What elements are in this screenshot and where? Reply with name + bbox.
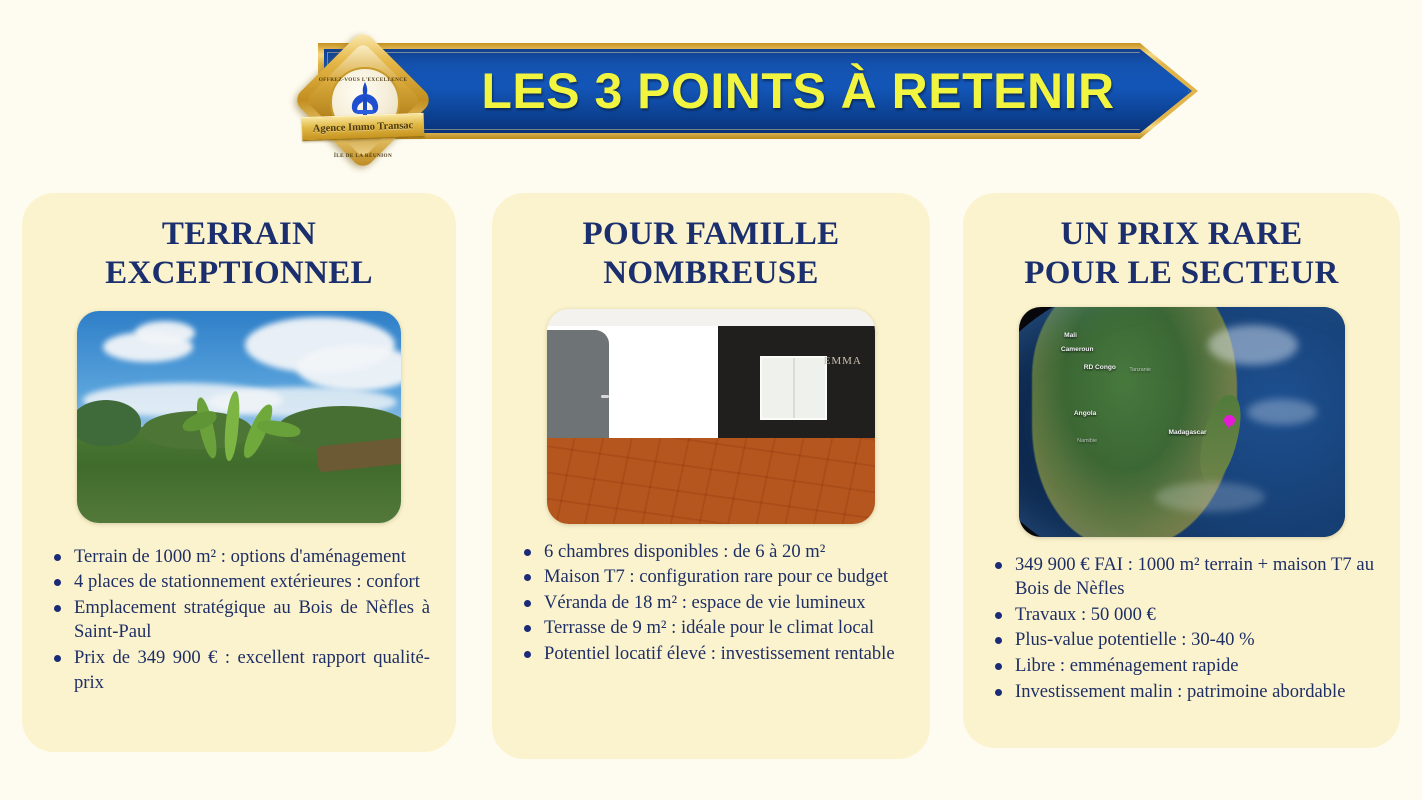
- list-item: Maison T7 : configuration rare pour ce b…: [522, 565, 904, 590]
- header-banner-area: LES 3 POINTS À RETENIR OFFREZ-VOUS L'EXC…: [0, 0, 1422, 185]
- map-label-madagascar: Madagascar: [1168, 429, 1206, 436]
- list-item: Plus-value potentielle : 30-40 %: [993, 628, 1374, 653]
- map-label-cameroun: Cameroun: [1061, 346, 1094, 353]
- card-photo-carte: Mali Cameroun RD Congo Tanzanie Angola N…: [1019, 307, 1345, 537]
- card-heading-line2: POUR LE SECTEUR: [1024, 255, 1338, 291]
- logo-ribbon-text: Agence Immo Transac: [313, 120, 414, 135]
- card-heading-line1: POUR FAMILLE: [583, 216, 840, 252]
- card-heading-prix: UN PRIX RARE POUR LE SECTEUR: [963, 193, 1400, 293]
- list-item: 349 900 € FAI : 1000 m² terrain + maison…: [993, 553, 1374, 602]
- list-item: Terrain de 1000 m² : options d'aménageme…: [52, 545, 430, 570]
- photo-door-handle: [601, 395, 609, 398]
- point-card-terrain: TERRAIN EXCEPTIONNEL Terrain de 1000 m² …: [22, 193, 456, 752]
- photo-vegetation: [77, 400, 141, 446]
- list-item: Travaux : 50 000 €: [993, 603, 1374, 628]
- photo-cloud: [1155, 482, 1265, 512]
- title-banner: LES 3 POINTS À RETENIR: [318, 43, 1198, 139]
- photo-window: [760, 356, 826, 420]
- map-label-rd-congo: RD Congo: [1084, 364, 1116, 371]
- list-item: Emplacement stratégique au Bois de Nèfle…: [52, 596, 430, 645]
- logo-arc-bottom-text: ÎLE DE LA RÉUNION: [296, 153, 430, 159]
- card-heading-terrain: TERRAIN EXCEPTIONNEL: [22, 193, 456, 293]
- card-heading-line1: TERRAIN: [162, 216, 316, 252]
- card-heading-line2: NOMBREUSE: [603, 255, 818, 291]
- card-heading-line2: EXCEPTIONNEL: [105, 255, 373, 291]
- card-bullets-famille: 6 chambres disponibles : de 6 à 20 m² Ma…: [492, 524, 930, 667]
- photo-cloud: [297, 345, 401, 391]
- map-pin-reunion-icon: [1224, 415, 1235, 430]
- logo-ribbon: Agence Immo Transac: [302, 113, 425, 141]
- list-item: 6 chambres disponibles : de 6 à 20 m²: [522, 540, 904, 565]
- card-bullets-prix: 349 900 € FAI : 1000 m² terrain + maison…: [963, 537, 1400, 704]
- photo-floor-tiles: [547, 438, 875, 524]
- map-label-angola: Angola: [1074, 410, 1096, 417]
- card-photo-terrain: [77, 311, 401, 523]
- point-card-famille: POUR FAMILLE NOMBREUSE EMMA 6 chambres d…: [492, 193, 930, 759]
- agency-logo-badge: OFFREZ-VOUS L'EXCELLENCE Agence Immo Tra…: [296, 33, 430, 167]
- photo-cloud: [1208, 325, 1298, 365]
- card-photo-chambre: EMMA: [547, 309, 875, 524]
- list-item: Terrasse de 9 m² : idéale pour le climat…: [522, 616, 904, 641]
- list-item: Prix de 349 900 € : excellent rapport qu…: [52, 646, 430, 695]
- list-item: Investissement malin : patrimoine aborda…: [993, 680, 1374, 705]
- points-cards-row: TERRAIN EXCEPTIONNEL Terrain de 1000 m² …: [0, 193, 1422, 773]
- card-heading-line1: UN PRIX RARE: [1061, 216, 1303, 252]
- map-label-mali: Mali: [1064, 332, 1077, 339]
- card-heading-famille: POUR FAMILLE NOMBREUSE: [492, 193, 930, 293]
- list-item: Véranda de 18 m² : espace de vie lumineu…: [522, 591, 904, 616]
- list-item: Libre : emménagement rapide: [993, 654, 1374, 679]
- point-card-prix: UN PRIX RARE POUR LE SECTEUR Mali Camero…: [963, 193, 1400, 748]
- logo-arc-top-text: OFFREZ-VOUS L'EXCELLENCE: [296, 77, 430, 83]
- map-label-namibie: Namibie: [1077, 438, 1097, 444]
- card-bullets-terrain: Terrain de 1000 m² : options d'aménageme…: [22, 523, 456, 695]
- photo-wall-text: EMMA: [824, 356, 862, 368]
- photo-cloud: [1247, 399, 1317, 425]
- list-item: 4 places de stationnement extérieures : …: [52, 570, 430, 595]
- list-item: Potentiel locatif élevé : investissement…: [522, 642, 904, 667]
- map-label-tanzanie: Tanzanie: [1129, 367, 1151, 373]
- page-title: LES 3 POINTS À RETENIR: [468, 43, 1128, 139]
